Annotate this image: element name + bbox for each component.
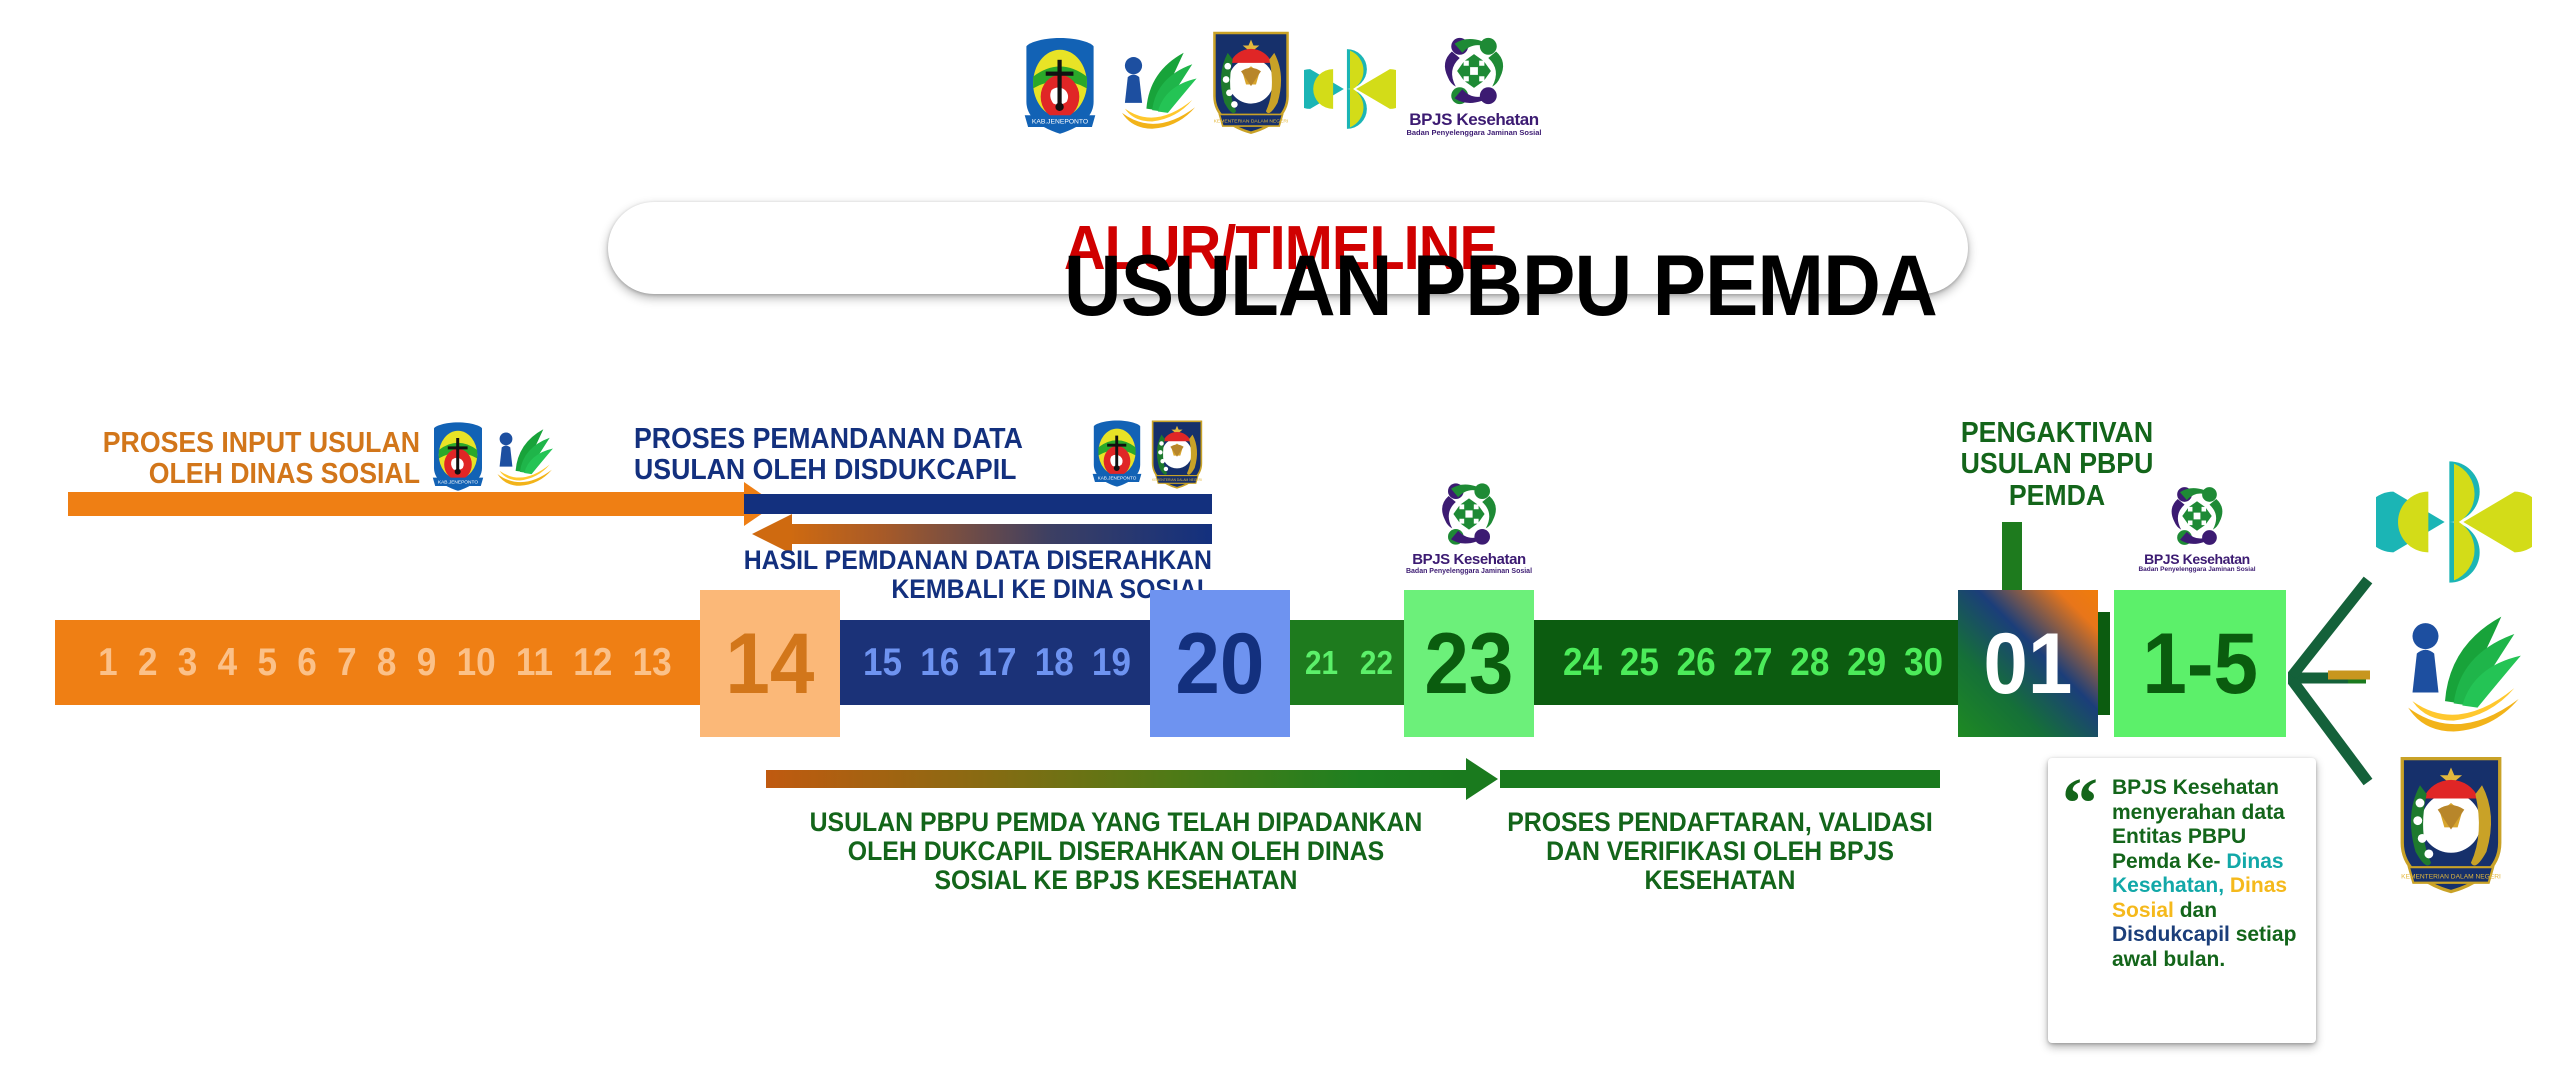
- day-26: 26: [1677, 641, 1716, 685]
- kabupaten-jeneponto-seal: [1018, 34, 1102, 136]
- milestone-01-label: 01: [1984, 621, 2073, 707]
- day-24: 24: [1563, 641, 1602, 685]
- day-22: 22: [1360, 644, 1393, 682]
- arrow-proses-pendaftaran-body: [1500, 770, 1940, 788]
- bpjs-wordmark-sub: Badan Penyelenggara Jaminan Sosial: [1406, 568, 1532, 575]
- arrow-usulan-dipadankan-head: [1466, 758, 1498, 800]
- day-15: 15: [863, 641, 902, 685]
- bpjs-wordmark-bpjs: BPJS Kesehatan: [1409, 110, 1539, 129]
- bpjs-kesehatan-logo: BPJS Kesehatan Badan Penyelenggara Jamin…: [1406, 32, 1541, 137]
- kementerian-kesehatan-logo: [1304, 42, 1396, 136]
- kementerian-dalam-negeri-seal: [1148, 418, 1206, 490]
- dinas-sosial-logo: [2388, 608, 2528, 738]
- callout-box: “ BPJS Kesehatan menyerahan data Entitas…: [2048, 758, 2316, 1043]
- label-usulan-dipadankan: USULAN PBPU PEMDA YANG TELAH DIPADANKAN …: [794, 808, 1438, 895]
- segment-dinas-sosial-days: 1 2 3 4 5 6 7 8 9 10 11 12 13: [88, 641, 682, 685]
- day-29: 29: [1847, 641, 1886, 685]
- label-proses-pendaftaran: PROSES PENDAFTARAN, VALIDASI DAN VERIFIK…: [1490, 808, 1950, 895]
- segment-penyerahan-days: 21 22: [1294, 644, 1404, 682]
- milestone-23[interactable]: 23: [1404, 590, 1534, 737]
- header-logo-strip: BPJS Kesehatan Badan Penyelenggara Jamin…: [0, 28, 2560, 136]
- callout-part-4: Disdukcapil: [2112, 923, 2236, 946]
- day-5: 5: [257, 641, 277, 685]
- kementerian-dalam-negeri-seal: [2392, 752, 2510, 896]
- milestone-01[interactable]: 01: [1958, 590, 2098, 737]
- segment-verifikasi: 24 25 26 27 28 29 30: [1532, 620, 1974, 705]
- day-12: 12: [573, 641, 612, 685]
- bpjs-wordmark-sub: Badan Penyelenggara Jaminan Sosial: [1406, 129, 1541, 137]
- timeline-bar: 1 2 3 4 5 6 7 8 9 10 11 12 13 15 16 17 1…: [0, 590, 2560, 750]
- segment-disdukcapil-days: 15 16 17 18 19: [854, 641, 1140, 685]
- milestone-1-5[interactable]: 1-5: [2114, 590, 2286, 737]
- day-7: 7: [337, 641, 357, 685]
- kementerian-kesehatan-logo: [2376, 452, 2532, 592]
- day-19: 19: [1092, 641, 1131, 685]
- label-proses-input-usulan: PROSES INPUT USULAN OLEH DINAS SOSIAL: [34, 428, 420, 491]
- day-3: 3: [178, 641, 198, 685]
- bpjs-kesehatan-logo: BPJS Kesehatan Badan Penyelenggara Jamin…: [2132, 482, 2262, 574]
- day-2: 2: [138, 641, 158, 685]
- bpjs-mark-icon: [1433, 478, 1505, 550]
- segment-disdukcapil: 15 16 17 18 19: [838, 620, 1156, 705]
- day-11: 11: [516, 641, 553, 685]
- day-27: 27: [1733, 641, 1772, 685]
- callout-part-3: dan: [2180, 899, 2217, 922]
- segment-dinas-sosial: 1 2 3 4 5 6 7 8 9 10 11 12 13: [55, 620, 715, 705]
- day-28: 28: [1790, 641, 1829, 685]
- arrow-pemandanan-body: [744, 494, 1212, 514]
- segment-penyerahan: 21 22: [1288, 620, 1410, 705]
- day-10: 10: [457, 641, 496, 685]
- quote-mark-icon: “: [2062, 784, 2098, 824]
- page-title: ALUR/TIMELINE USULAN PBPU PEMDA: [1064, 213, 1512, 284]
- arrow-input-usulan-body: [68, 492, 744, 516]
- day-30: 30: [1904, 641, 1943, 685]
- milestone-1-5-label: 1-5: [2142, 621, 2258, 707]
- label-proses-pemandanan: PROSES PEMANDANAN DATA USULAN OLEH DISDU…: [634, 424, 1066, 487]
- milestone-01-right-edge: [2098, 612, 2110, 715]
- day-25: 25: [1620, 641, 1659, 685]
- day-6: 6: [297, 641, 317, 685]
- segment-verifikasi-days: 24 25 26 27 28 29 30: [1554, 641, 1952, 685]
- arrow-hasil-pemdanan-body: [790, 524, 1212, 544]
- dinas-sosial-logo: [1112, 44, 1198, 136]
- bpjs-mark-icon: [1435, 32, 1513, 110]
- milestone-14-label: 14: [726, 621, 815, 707]
- kabupaten-jeneponto-seal: [428, 420, 488, 492]
- milestone-20-label: 20: [1176, 621, 1265, 707]
- milestone-14[interactable]: 14: [700, 590, 840, 737]
- kementerian-dalam-negeri-seal: [1208, 28, 1294, 136]
- milestone-20[interactable]: 20: [1150, 590, 1290, 737]
- day-16: 16: [920, 641, 959, 685]
- page-title-rest: USULAN PBPU PEMDA: [1064, 213, 1937, 360]
- day-18: 18: [1035, 641, 1074, 685]
- bpjs-wordmark-sub: Badan Penyelenggara Jaminan Sosial: [2138, 567, 2255, 574]
- bpjs-kesehatan-logo: BPJS Kesehatan Badan Penyelenggara Jamin…: [1404, 478, 1534, 575]
- milestone-23-label: 23: [1425, 621, 1514, 707]
- arrow-usulan-dipadankan-body: [766, 770, 1466, 788]
- day-8: 8: [377, 641, 397, 685]
- page-title-banner: ALUR/TIMELINE USULAN PBPU PEMDA: [608, 202, 1968, 294]
- day-4: 4: [218, 641, 238, 685]
- dinas-sosial-logo: [490, 424, 554, 490]
- day-9: 9: [417, 641, 437, 685]
- day-17: 17: [977, 641, 1016, 685]
- day-13: 13: [633, 641, 672, 685]
- bpjs-mark-icon: [2163, 482, 2231, 550]
- bpjs-wordmark-bpjs: BPJS Kesehatan: [1412, 552, 1526, 567]
- kabupaten-jeneponto-seal: [1088, 418, 1146, 488]
- day-21: 21: [1305, 644, 1338, 682]
- bpjs-wordmark-bpjs: BPJS Kesehatan: [2144, 552, 2250, 566]
- day-1: 1: [98, 641, 118, 685]
